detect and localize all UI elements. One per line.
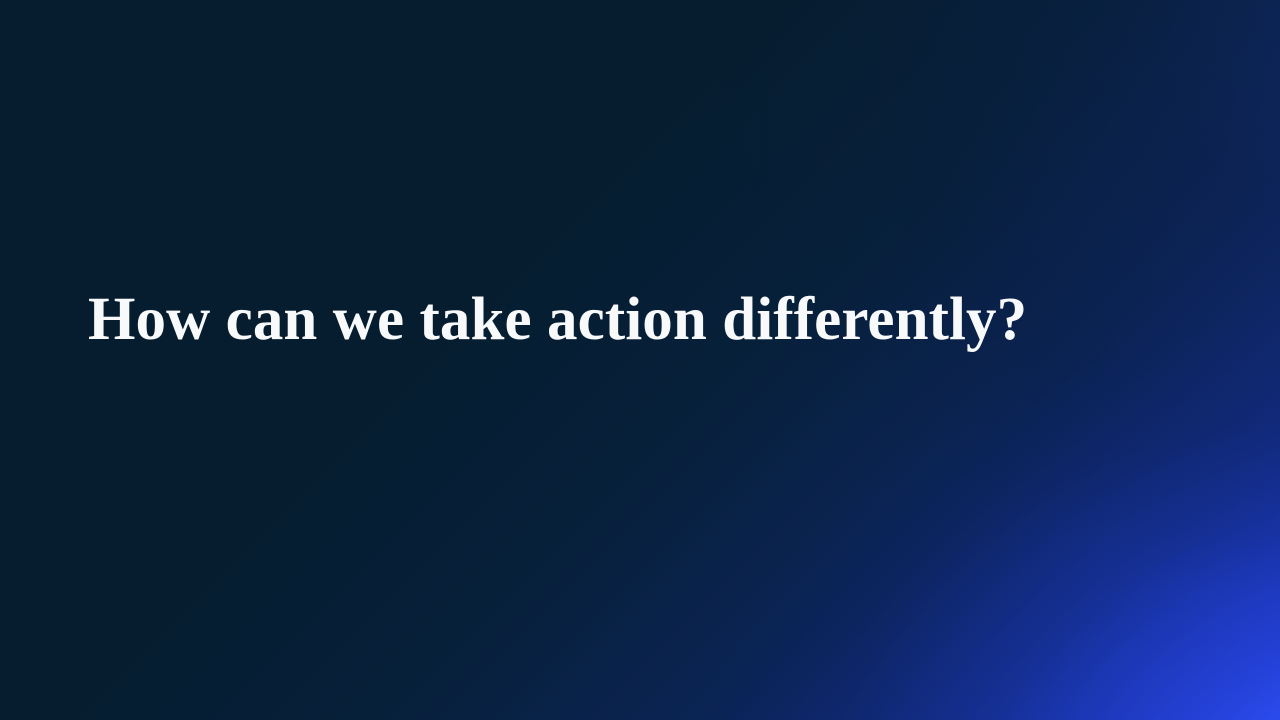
slide-headline: How can we take action differently? — [88, 286, 1027, 353]
presentation-slide: How can we take action differently? — [0, 0, 1280, 720]
slide-content-area: How can we take action differently? — [0, 0, 1280, 720]
